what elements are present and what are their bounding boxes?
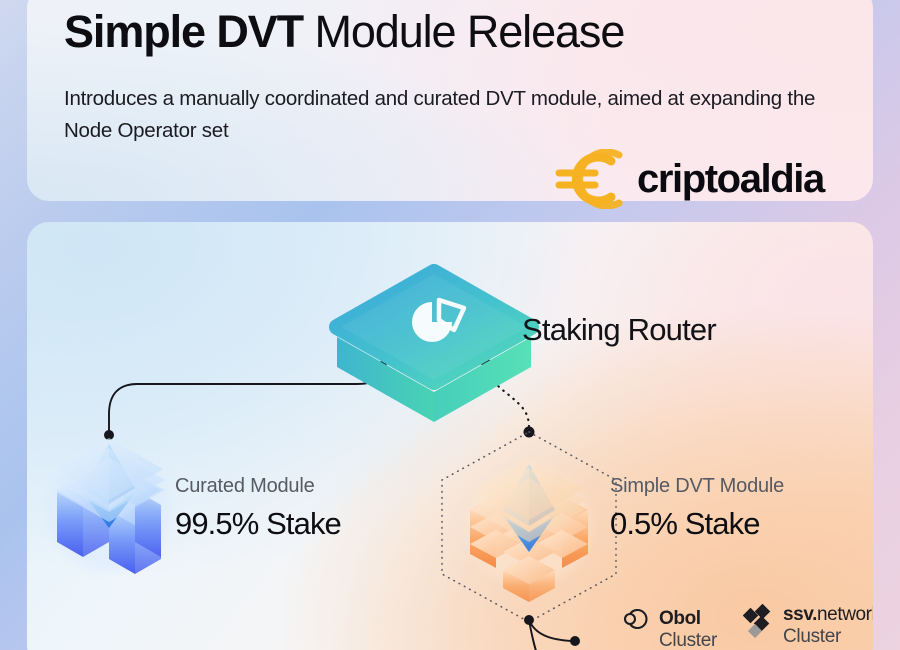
- obol-cluster-tag: Obol Cluster: [617, 608, 717, 650]
- ssv-cluster-tag: ssv.network Cluster: [743, 604, 873, 647]
- obol-cluster-name: Obol: [659, 608, 717, 630]
- simple-dvt-module-value: 0.5% Stake: [610, 506, 760, 542]
- curated-module-caption: Curated Module: [175, 475, 315, 498]
- ssv-diamonds-icon: [743, 604, 775, 644]
- page-subtitle: Introduces a manually coordinated and cu…: [64, 83, 854, 148]
- curated-module-blocks-icon: [47, 438, 171, 574]
- ssv-cluster-text: ssv.network Cluster: [783, 604, 873, 647]
- obol-cluster-text: Obol Cluster: [659, 608, 717, 650]
- curated-module-value: 99.5% Stake: [175, 506, 341, 542]
- connector-router-to-curated: [104, 361, 387, 440]
- obol-cluster-sub: Cluster: [659, 630, 717, 650]
- simple-dvt-module-caption: Simple DVT Module: [610, 475, 784, 498]
- ssv-cluster-name: ssv.network: [783, 604, 873, 626]
- brand-logo: criptoaldia: [549, 149, 824, 209]
- staking-router-label: Staking Router: [522, 312, 716, 348]
- diagram-card: Staking Router Curated Module 99.5% Stak…: [27, 222, 873, 650]
- staking-router-cube-icon: [337, 272, 531, 422]
- ssv-cluster-sub: Cluster: [783, 626, 873, 648]
- page-title: Simple DVT Module Release: [64, 8, 624, 56]
- connector-hexagon-to-obol: [524, 615, 580, 646]
- brand-name: criptoaldia: [637, 159, 824, 199]
- ssv-cluster-name-bold: ssv.: [783, 604, 817, 625]
- ssv-cluster-name-thin: network: [817, 604, 873, 625]
- diagram-graphics: [27, 222, 873, 650]
- page-title-strong: Simple DVT: [64, 6, 303, 57]
- page-title-light: Module Release: [303, 6, 624, 57]
- obol-infinity-icon: [617, 608, 651, 630]
- simple-dvt-module-blocks-icon: [467, 458, 591, 602]
- euro-c-logo-icon: [549, 149, 633, 209]
